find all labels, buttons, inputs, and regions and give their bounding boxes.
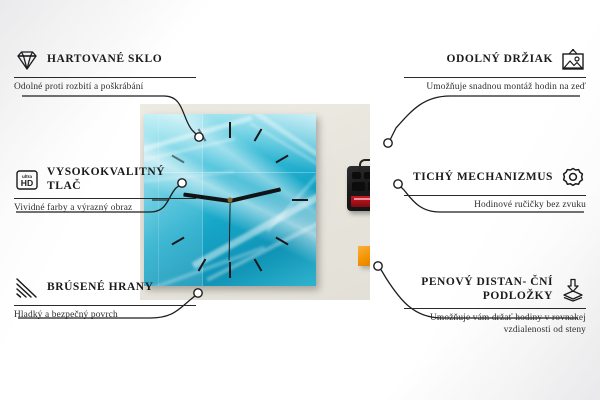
- feature-header: ultra HD VYSOKOKVALITNÝ TLAČ: [14, 166, 196, 193]
- feature-header: ODOLNÝ DRŽIAK: [404, 48, 586, 72]
- connector-line-tempered-glass: [22, 96, 197, 135]
- feature-title: HARTOVANÉ SKLO: [47, 53, 162, 67]
- feature-header: PENOVÝ DISTAN- ČNÍ PODLOŽKY: [404, 276, 586, 303]
- ultra-hd-large-label: HD: [21, 178, 33, 188]
- press-layers-icon: [560, 278, 586, 302]
- diamond-icon: [14, 48, 40, 72]
- picture-frame-icon: [560, 48, 586, 72]
- feature-divider: [14, 305, 196, 306]
- infographic-canvas: HARTOVANÉ SKLO Odolné proti rozbití a po…: [0, 0, 600, 400]
- connector-dot-durable-hanger: [384, 139, 392, 147]
- feature-subtitle: Hladký a bezpečný povrch: [14, 310, 196, 322]
- feature-ground-edges: BRÚSENÉ HRANY Hladký a bezpečný povrch: [14, 276, 196, 322]
- feature-subtitle: Umožňuje vám držať hodiny v rovnakej vzd…: [404, 313, 586, 336]
- feature-divider: [404, 195, 586, 196]
- connector-dot-foam-spacers: [374, 262, 382, 270]
- feature-subtitle: Hodinové ručičky bez zvuku: [404, 200, 586, 212]
- feature-foam-spacers: PENOVÝ DISTAN- ČNÍ PODLOŽKY Umožňuje vám…: [404, 276, 586, 336]
- feature-subtitle: Umožňuje snadnou montáž hodin na zeď: [404, 82, 586, 94]
- hatched-edge-icon: [14, 276, 40, 300]
- feature-divider: [404, 77, 586, 78]
- gear-icon: [560, 166, 586, 190]
- feature-subtitle: Vividné farby a výrazný obraz: [14, 203, 196, 215]
- feature-durable-hanger: ODOLNÝ DRŽIAK Umožňuje snadnou montáž ho…: [404, 48, 586, 94]
- feature-high-quality-print: ultra HD VYSOKOKVALITNÝ TLAČ Vividné far…: [14, 166, 196, 215]
- connector-dot-silent-mechanism: [394, 180, 402, 188]
- feature-header: BRÚSENÉ HRANY: [14, 276, 196, 300]
- feature-divider: [14, 77, 196, 78]
- feature-title: PENOVÝ DISTAN- ČNÍ PODLOŽKY: [404, 276, 553, 303]
- feature-subtitle: Odolné proti rozbití a poškrábání: [14, 82, 196, 94]
- connector-line-durable-hanger: [390, 96, 580, 140]
- feature-header: HARTOVANÉ SKLO: [14, 48, 196, 72]
- ultra-hd-icon: ultra HD: [14, 168, 40, 192]
- feature-title: ODOLNÝ DRŽIAK: [446, 53, 553, 67]
- feature-title: TICHÝ MECHANIZMUS: [413, 171, 553, 185]
- connector-dot-tempered-glass: [195, 133, 203, 141]
- feature-divider: [404, 308, 586, 309]
- feature-silent-mechanism: TICHÝ MECHANIZMUS Hodinové ručičky bez z…: [404, 166, 586, 212]
- feature-tempered-glass: HARTOVANÉ SKLO Odolné proti rozbití a po…: [14, 48, 196, 94]
- feature-header: TICHÝ MECHANIZMUS: [404, 166, 586, 190]
- feature-divider: [14, 198, 196, 199]
- feature-title: BRÚSENÉ HRANY: [47, 281, 154, 295]
- feature-title: VYSOKOKVALITNÝ TLAČ: [47, 166, 196, 193]
